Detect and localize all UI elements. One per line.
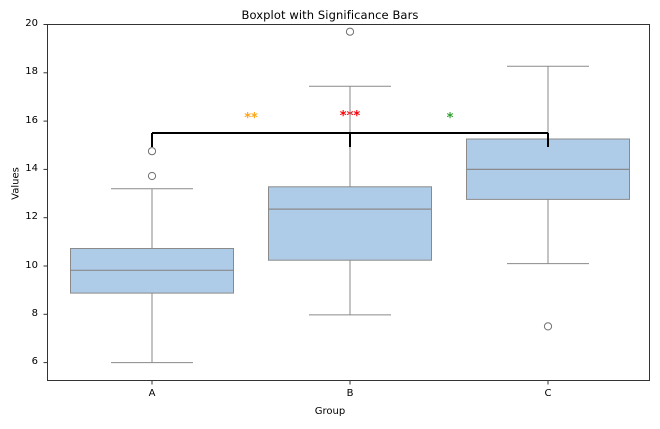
y-tick-marks [44,25,48,363]
boxplot-figure: Boxplot with Significance Bars Values Gr… [0,0,660,429]
outlier-a-2 [148,172,155,179]
outlier-c-1 [544,323,551,330]
box-group-c [467,66,630,330]
box-b [269,187,432,260]
box-group-a [71,148,234,363]
plot-canvas [0,0,660,429]
outlier-b-1 [346,28,353,35]
outlier-a-1 [148,148,155,155]
x-tick-marks [152,381,548,385]
box-group-b [269,28,432,315]
